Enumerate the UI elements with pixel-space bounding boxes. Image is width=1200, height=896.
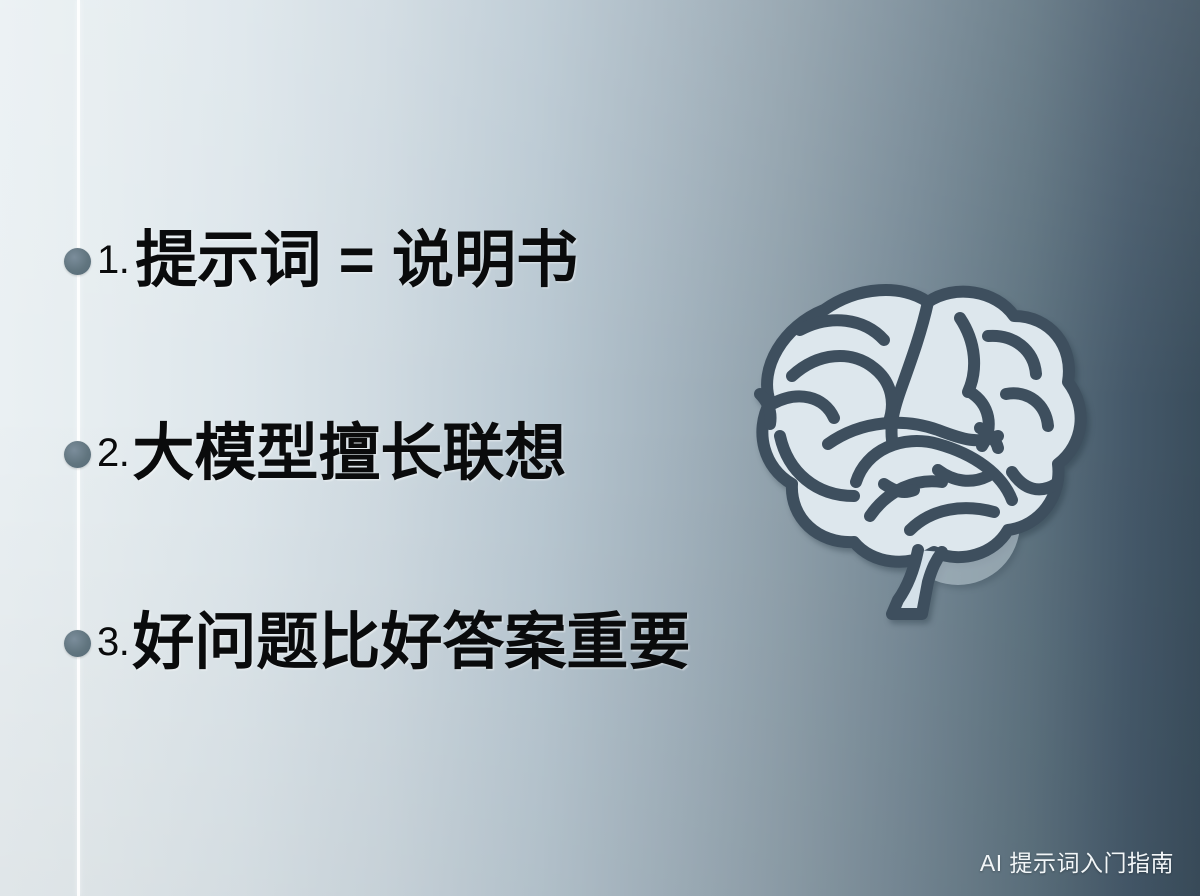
bullet-dot-icon (64, 441, 91, 468)
list-item: 2. 大模型擅长联想 (64, 423, 566, 485)
bullet-number: 2. (97, 433, 132, 475)
brain-illustration (706, 268, 1096, 628)
list-item: 3. 好问题比好答案重要 (64, 612, 690, 674)
bullet-list: 1. 提示词 = 说明书 2. 大模型擅长联想 3. 好问题比好答案重要 (0, 0, 760, 896)
bullet-text: 提示词 = 说明书 (135, 230, 578, 292)
bullet-text: 大模型擅长联想 (132, 423, 566, 485)
bullet-text: 好问题比好答案重要 (132, 612, 690, 674)
slide-canvas: 1. 提示词 = 说明书 2. 大模型擅长联想 3. 好问题比好答案重要 (0, 0, 1200, 896)
list-item: 1. 提示词 = 说明书 (64, 230, 578, 292)
footer-caption: AI 提示词入门指南 (980, 844, 1174, 878)
bullet-dot-icon (64, 248, 91, 275)
bullet-number: 3. (97, 622, 132, 664)
bullet-dot-icon (64, 630, 91, 657)
bullet-number: 1. (97, 240, 135, 282)
